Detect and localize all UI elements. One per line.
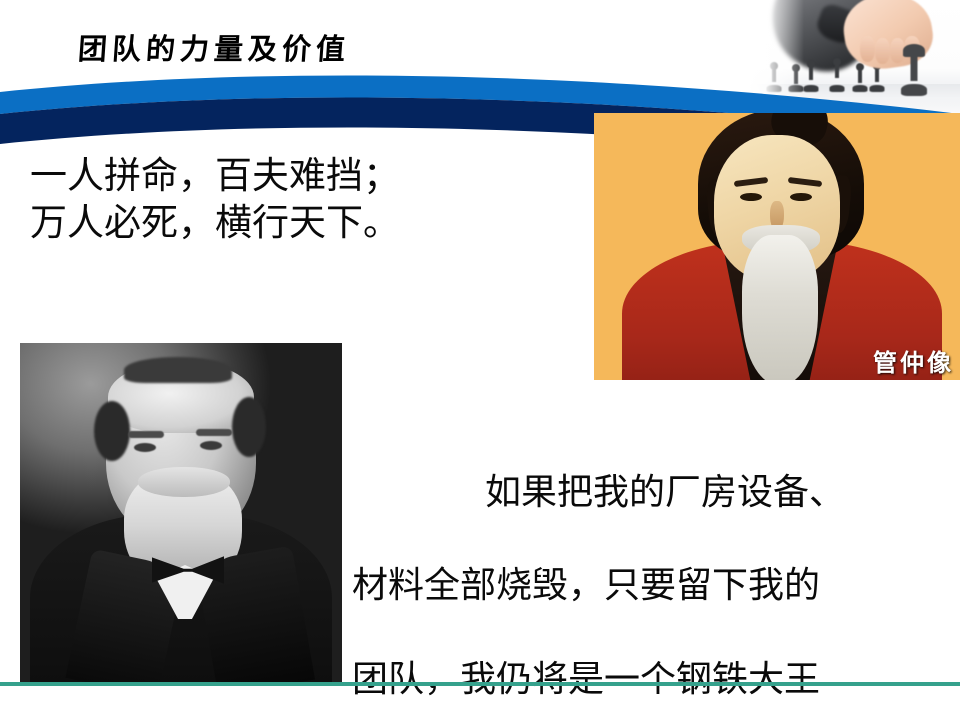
quote-guanzhong-text: 一人拼命，百夫难挡； 万人必死，横行天下。 <box>30 152 550 247</box>
chess-photo <box>748 0 960 118</box>
guanzhong-caption: 管仲像 <box>873 343 954 378</box>
guanzhong-beard <box>742 235 818 380</box>
hand-finger <box>875 38 890 64</box>
bottom-divider-line <box>0 682 960 686</box>
quote-carnegie-line-1: 如果把我的厂房设备、 <box>352 469 952 516</box>
chess-pawn <box>852 63 868 92</box>
chess-bishop <box>828 58 846 92</box>
carnegie-hair <box>94 401 130 461</box>
quote-carnegie-line-2: 材料全部烧毁，只要留下我的 <box>352 562 952 609</box>
quote-carnegie-line-3: 团队，我仍将是一个钢铁大王 <box>352 656 952 703</box>
carnegie-eyebrow <box>196 429 232 436</box>
hand-finger <box>860 36 875 62</box>
carnegie-portrait-image <box>20 343 342 684</box>
carnegie-eyebrow <box>128 431 164 438</box>
presentation-slide: 团队的力量及价值 管仲像 一人拼命，百夫难挡； 万人必死，横行天下。 <box>0 0 960 720</box>
carnegie-hair <box>232 397 266 457</box>
page-title: 团队的力量及价值 <box>77 36 351 65</box>
carnegie-mustache <box>138 467 230 497</box>
chess-king-piece <box>902 44 926 96</box>
carnegie-eye <box>134 443 156 452</box>
quote-carnegie-block: 如果把我的厂房设备、 材料全部烧毁，只要留下我的 团队，我仍将是一个钢铁大王 —… <box>352 422 952 720</box>
carnegie-eye <box>200 441 222 450</box>
guanzhong-eye <box>740 193 762 201</box>
carnegie-hair <box>124 357 232 383</box>
guanzhong-eye <box>790 193 812 201</box>
chess-pawn <box>803 60 819 92</box>
guanzhong-portrait-image: 管仲像 <box>594 113 960 380</box>
